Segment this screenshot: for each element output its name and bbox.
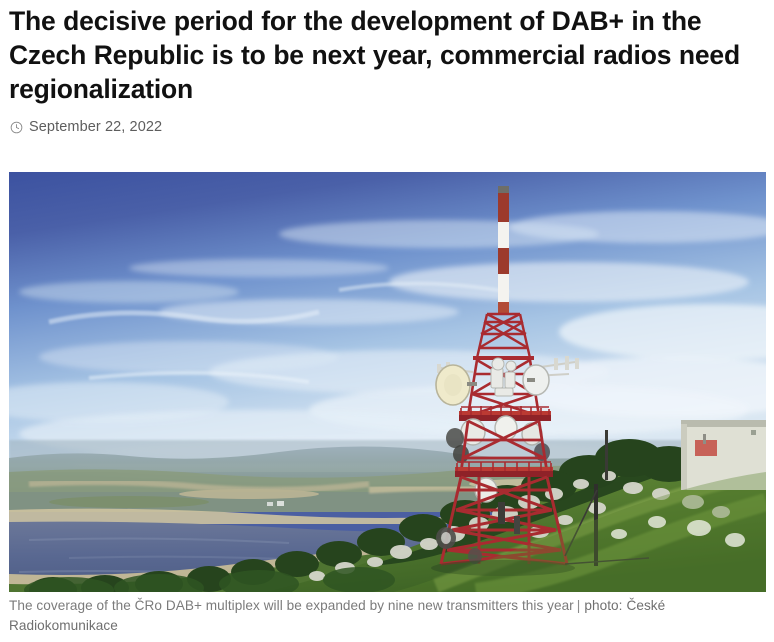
caption-text: The coverage of the ČRo DAB+ multiplex w… [9, 598, 574, 613]
publish-date: September 22, 2022 [29, 119, 162, 135]
article-meta: September 22, 2022 [0, 106, 774, 138]
article-container: The decisive period for the development … [0, 0, 774, 642]
article-photo [9, 172, 766, 592]
caption-credit-label: photo: [584, 598, 622, 613]
clock-icon [10, 121, 23, 134]
transmitter-tower-photo [9, 172, 766, 592]
caption-separator: | [574, 598, 585, 613]
page-title: The decisive period for the development … [0, 0, 774, 106]
photo-caption: The coverage of the ČRo DAB+ multiplex w… [9, 596, 766, 636]
